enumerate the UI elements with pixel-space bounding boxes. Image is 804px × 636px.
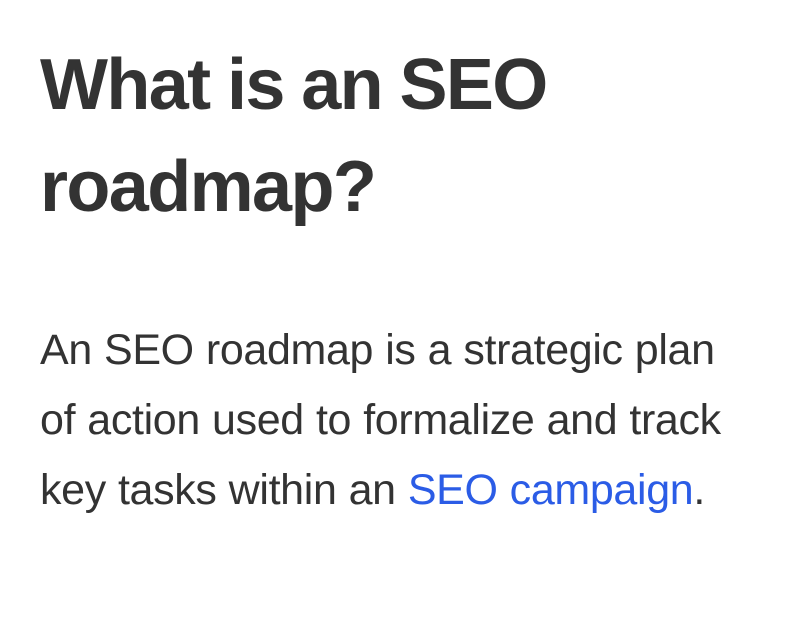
seo-campaign-link[interactable]: SEO campaign bbox=[408, 466, 694, 514]
paragraph-trailing-text: . bbox=[693, 466, 705, 514]
page-title: What is an SEO roadmap? bbox=[40, 34, 720, 238]
body-paragraph: An SEO roadmap is a strategic plan of ac… bbox=[40, 315, 752, 525]
article-root: What is an SEO roadmap? An SEO roadmap i… bbox=[0, 0, 804, 636]
